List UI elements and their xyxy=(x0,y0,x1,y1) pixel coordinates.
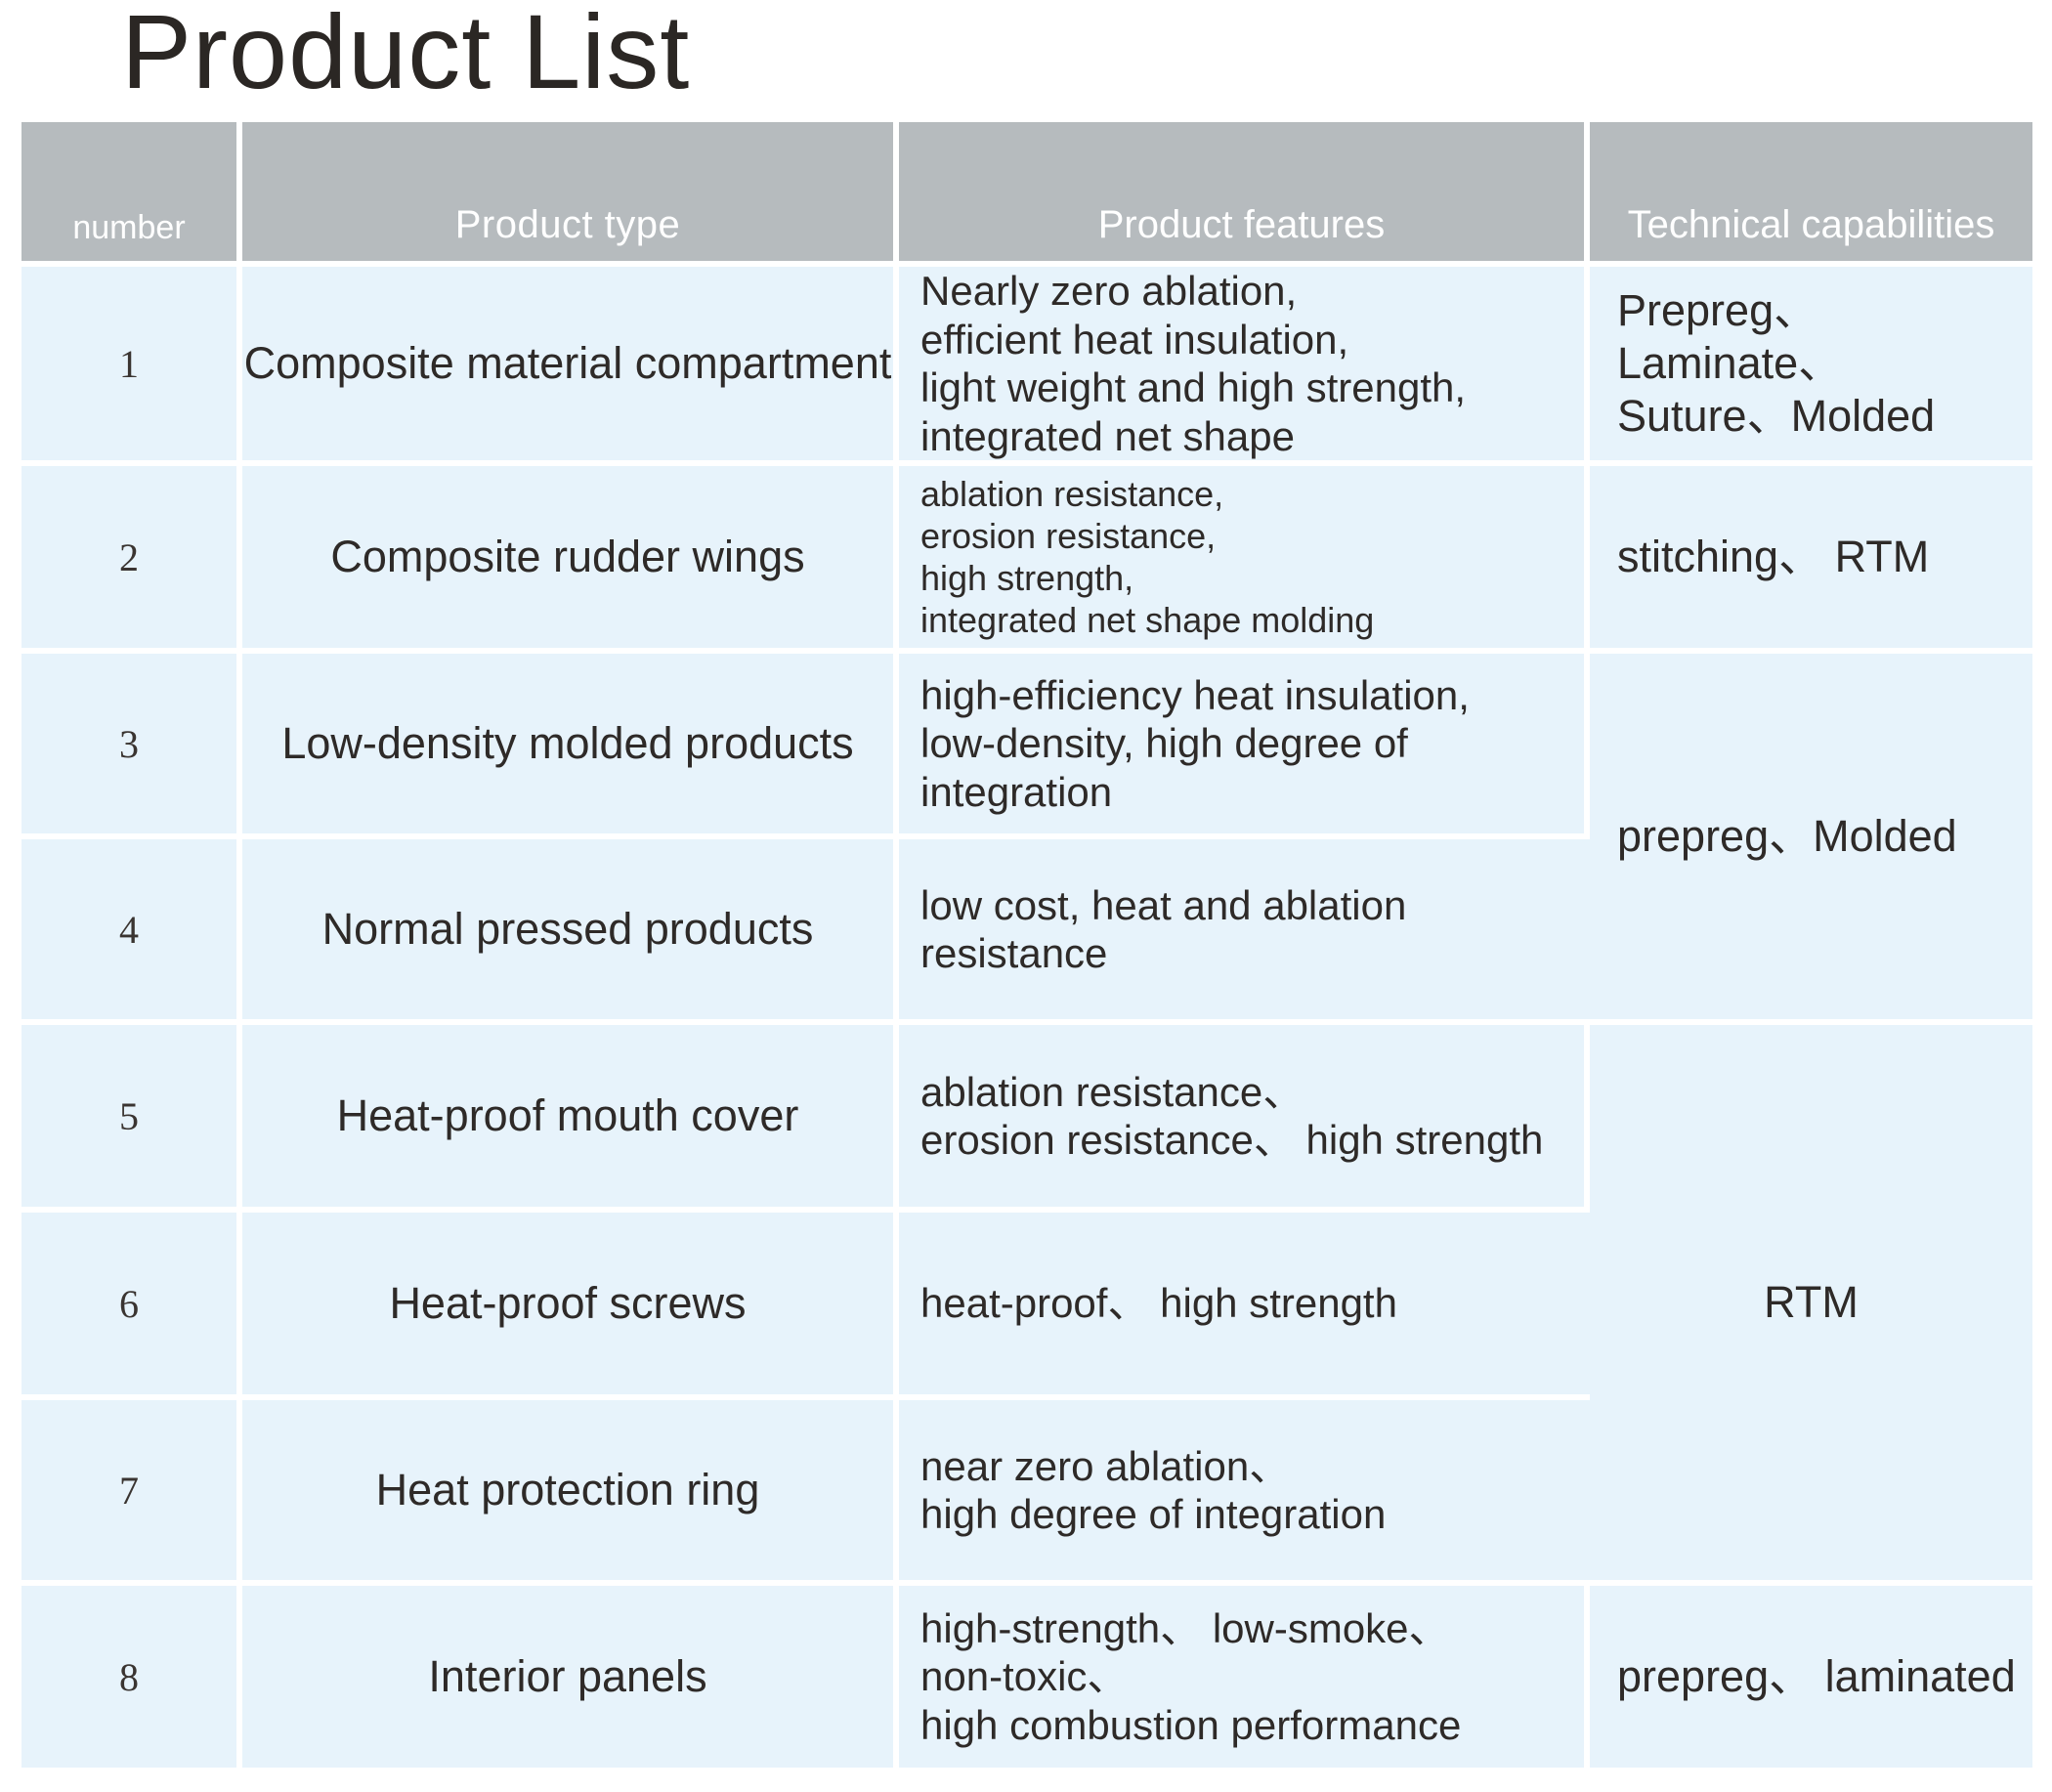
cell-number: 4 xyxy=(21,839,242,1025)
feature-line: heat-proof、 high strength xyxy=(920,1279,1590,1328)
cell-product-type: Composite material compartment xyxy=(242,267,899,466)
cell-technical-capabilities: Prepreg、Laminate、 Suture、Molded xyxy=(1590,267,2032,466)
column-header-product-features: Product features xyxy=(899,122,1590,267)
feature-line: high combustion performance xyxy=(920,1701,1584,1750)
feature-line: erosion resistance, xyxy=(920,515,1584,557)
cell-product-type: Interior panels xyxy=(242,1586,899,1773)
cell-technical-capabilities: stitching、 RTM xyxy=(1590,466,2032,654)
table-header: number Product type Product features Tec… xyxy=(21,122,2032,267)
table-row: 3 Low-density molded products high-effic… xyxy=(21,654,2032,839)
cell-technical-capabilities: prepreg、 laminated xyxy=(1590,1586,2032,1773)
feature-line: integrated net shape molding xyxy=(920,599,1584,641)
tech-line: stitching、 RTM xyxy=(1617,531,2032,583)
page-title: Product List xyxy=(121,0,690,112)
column-header-technical-capabilities: Technical capabilities xyxy=(1590,122,2032,267)
tech-line: Prepreg、Laminate、 xyxy=(1617,284,2032,390)
cell-number: 3 xyxy=(21,654,242,839)
feature-line: Nearly zero ablation, xyxy=(920,267,1584,316)
table-row: 1 Composite material compartment Nearly … xyxy=(21,267,2032,466)
cell-product-features: near zero ablation、 high degree of integ… xyxy=(899,1400,1590,1586)
cell-product-features: ablation resistance、 erosion resistance、… xyxy=(899,1025,1590,1213)
product-list-page: Product List number Product type Product… xyxy=(0,0,2052,1792)
cell-number: 5 xyxy=(21,1025,242,1213)
cell-number: 2 xyxy=(21,466,242,654)
tech-line: prepreg、Molded xyxy=(1617,810,2032,863)
cell-product-type: Low-density molded products xyxy=(242,654,899,839)
feature-line: ablation resistance, xyxy=(920,473,1584,515)
feature-line: high-efficiency heat insulation, xyxy=(920,671,1584,720)
tech-line: Suture、Molded xyxy=(1617,390,2032,443)
cell-number: 6 xyxy=(21,1213,242,1400)
tech-line: RTM xyxy=(1590,1276,2032,1329)
tech-line: prepreg、 laminated xyxy=(1617,1650,2032,1703)
feature-line: erosion resistance、 high strength xyxy=(920,1116,1584,1165)
cell-product-features: ablation resistance, erosion resistance,… xyxy=(899,466,1590,654)
feature-line: low-density, high degree of integration xyxy=(920,719,1584,816)
cell-technical-capabilities-merged: RTM xyxy=(1590,1025,2032,1586)
feature-line: high strength, xyxy=(920,557,1584,599)
feature-line: integrated net shape xyxy=(920,412,1584,461)
cell-product-type: Normal pressed products xyxy=(242,839,899,1025)
cell-product-type: Heat protection ring xyxy=(242,1400,899,1586)
cell-product-type: Heat-proof mouth cover xyxy=(242,1025,899,1213)
column-header-product-type: Product type xyxy=(242,122,899,267)
table-body: 1 Composite material compartment Nearly … xyxy=(21,267,2032,1773)
cell-product-type: Composite rudder wings xyxy=(242,466,899,654)
table-header-row: number Product type Product features Tec… xyxy=(21,122,2032,267)
cell-product-features: low cost, heat and ablation resistance xyxy=(899,839,1590,1025)
feature-line: ablation resistance、 xyxy=(920,1068,1584,1117)
cell-product-features: Nearly zero ablation, efficient heat ins… xyxy=(899,267,1590,466)
feature-line: efficient heat insulation, xyxy=(920,316,1584,364)
product-list-table: number Product type Product features Tec… xyxy=(21,122,2032,1773)
feature-line: low cost, heat and ablation resistance xyxy=(920,881,1590,978)
table-row: 2 Composite rudder wings ablation resist… xyxy=(21,466,2032,654)
cell-product-features: high-efficiency heat insulation, low-den… xyxy=(899,654,1590,839)
feature-line: light weight and high strength, xyxy=(920,363,1584,412)
table-row: 5 Heat-proof mouth cover ablation resist… xyxy=(21,1025,2032,1213)
table-row: 8 Interior panels high-strength、 low-smo… xyxy=(21,1586,2032,1773)
cell-product-features: heat-proof、 high strength xyxy=(899,1213,1590,1400)
cell-number: 1 xyxy=(21,267,242,466)
feature-line: high-strength、 low-smoke、 xyxy=(920,1604,1584,1653)
cell-technical-capabilities-merged: prepreg、Molded xyxy=(1590,654,2032,1025)
cell-product-type: Heat-proof screws xyxy=(242,1213,899,1400)
cell-number: 7 xyxy=(21,1400,242,1586)
column-header-number: number xyxy=(21,122,242,267)
feature-line: high degree of integration xyxy=(920,1490,1590,1539)
feature-line: non-toxic、 xyxy=(920,1652,1584,1701)
cell-product-features: high-strength、 low-smoke、 non-toxic、 hig… xyxy=(899,1586,1590,1773)
cell-number: 8 xyxy=(21,1586,242,1773)
feature-line: near zero ablation、 xyxy=(920,1442,1590,1491)
